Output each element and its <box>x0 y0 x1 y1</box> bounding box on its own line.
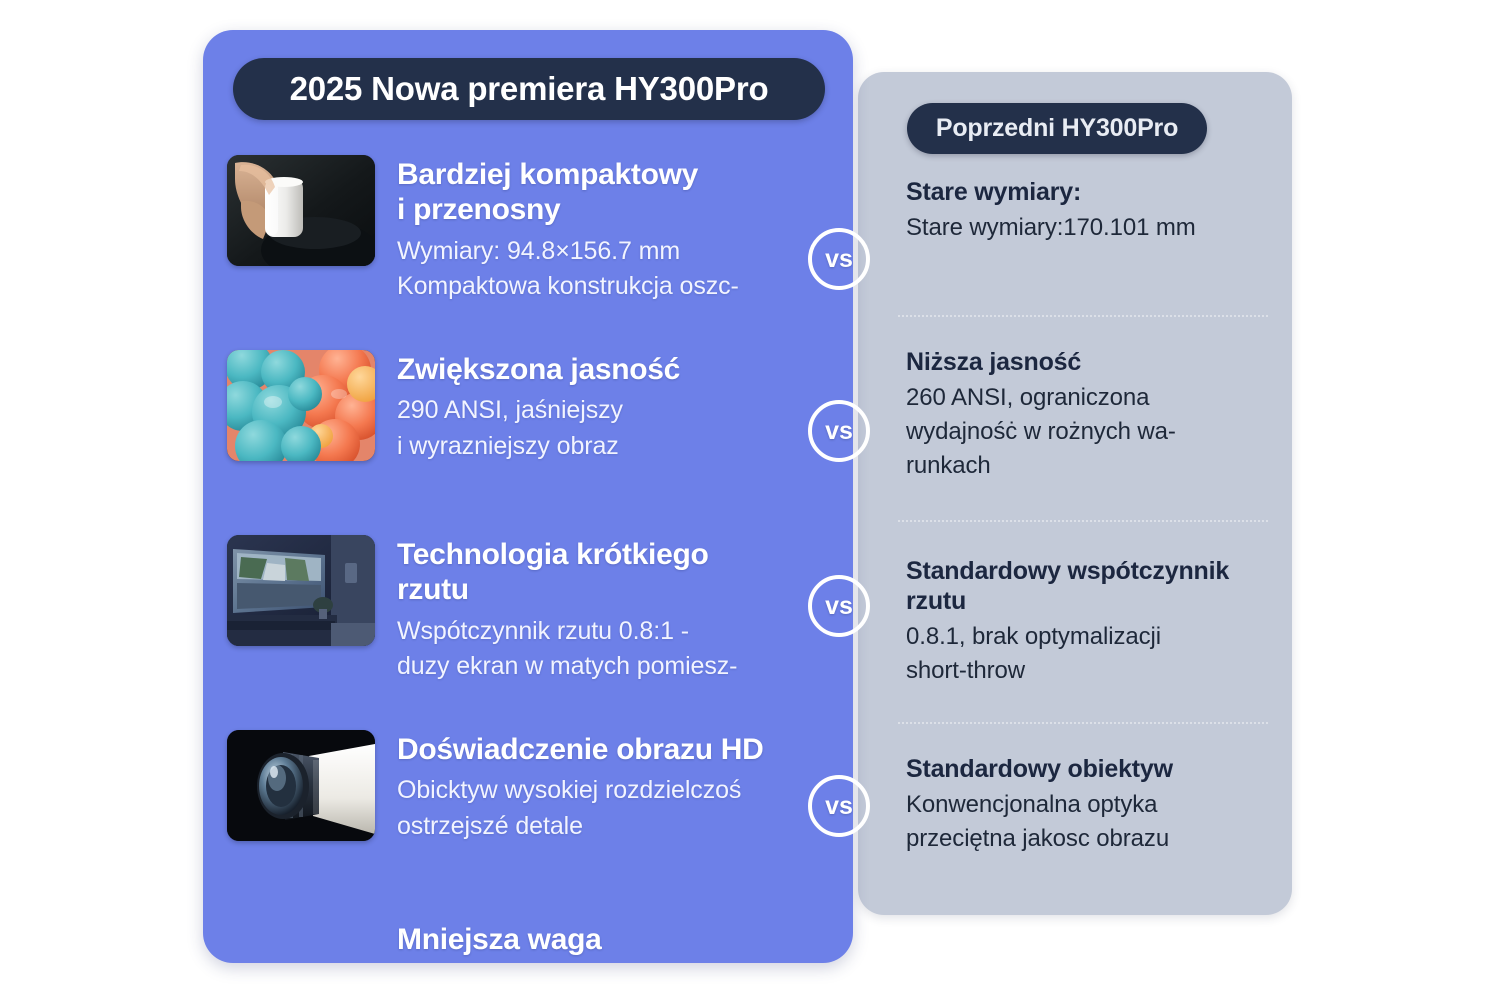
vs-badge-4: vs <box>808 775 870 837</box>
feature-desc: 290 ANSI, jaśniejszy i wyrazniejszy obra… <box>397 393 837 464</box>
projected-screen-room-photo <box>227 535 375 646</box>
comparison-infographic: Poprzedni HY300Pro Stare wymiary: Stare … <box>0 0 1500 1000</box>
new-panel-title-pill: 2025 Nowa premiera HY300Pro <box>233 58 825 120</box>
old-panel-title: Poprzedni HY300Pro <box>936 114 1178 143</box>
feature-title: Doświadczenie obrazu HD <box>397 732 837 767</box>
vs-badge-label: vs <box>825 245 853 274</box>
projector-in-bag-photo <box>227 155 375 266</box>
row-divider <box>898 722 1268 725</box>
vs-badge-label: vs <box>825 417 853 446</box>
old-row-dimensions: Stare wymiary: Stare wymiary:170.101 mm <box>906 177 1284 245</box>
vs-badge-3: vs <box>808 575 870 637</box>
feature-row-hd-image: Doświadczenie obrazu HD Obicktyw wysokie… <box>227 730 837 844</box>
new-panel-footnote: Mniejsza waga <box>397 923 602 957</box>
feature-title: Zwiększona jasność <box>397 352 837 387</box>
old-row-brightness: Niższa jasność 260 ANSI, ograniczona wyd… <box>906 347 1284 483</box>
vs-badge-label: vs <box>825 792 853 821</box>
old-row-throw-ratio: Standardowy wspótczynnik rzutu 0.8.1, br… <box>906 556 1284 688</box>
feature-title: Technologia krótkiego rzutu <box>397 537 837 608</box>
old-row-desc: Konwencjonalna optyka przeciętna jakosc … <box>906 788 1284 856</box>
old-row-title: Standardowy wspótczynnik rzutu <box>906 556 1284 616</box>
projector-lens-closeup-photo <box>227 730 375 841</box>
feature-desc: Wspótczynnik rzutu 0.8:1 - duzy ekran w … <box>397 614 837 685</box>
colorful-balloons-photo <box>227 350 375 461</box>
feature-row-short-throw: Technologia krótkiego rzutu Wspótczynnik… <box>227 535 837 685</box>
vs-badge-label: vs <box>825 592 853 621</box>
old-row-desc: Stare wymiary:170.101 mm <box>906 211 1284 245</box>
old-panel-title-pill: Poprzedni HY300Pro <box>907 103 1207 154</box>
old-row-title: Niższa jasność <box>906 347 1284 377</box>
new-panel-title: 2025 Nowa premiera HY300Pro <box>290 70 769 108</box>
feature-desc: Obicktyw wysokiej rozdzielczoś ostrzejsz… <box>397 773 837 844</box>
vs-badge-2: vs <box>808 400 870 462</box>
old-product-panel: Poprzedni HY300Pro Stare wymiary: Stare … <box>858 72 1292 915</box>
feature-row-brightness: Zwiększona jasność 290 ANSI, jaśniejszy … <box>227 350 837 464</box>
feature-desc: Wymiary: 94.8×156.7 mm Kompaktowa konstr… <box>397 234 837 305</box>
row-divider <box>898 315 1268 318</box>
old-row-title: Stare wymiary: <box>906 177 1284 207</box>
feature-title: Bardziej kompaktowy i przenosny <box>397 157 837 228</box>
old-row-desc: 260 ANSI, ograniczona wydajnośċ w rożnyc… <box>906 381 1284 483</box>
new-product-panel: 2025 Nowa premiera HY300Pro <box>203 30 853 963</box>
feature-row-compact: Bardziej kompaktowy i przenosny Wymiary:… <box>227 155 837 305</box>
old-row-lens: Standardowy obiektyw Konwencjonalna opty… <box>906 754 1284 856</box>
row-divider <box>898 520 1268 523</box>
old-row-title: Standardowy obiektyw <box>906 754 1284 784</box>
old-row-desc: 0.8.1, brak optymalizacji short-throw <box>906 620 1284 688</box>
vs-badge-1: vs <box>808 228 870 290</box>
